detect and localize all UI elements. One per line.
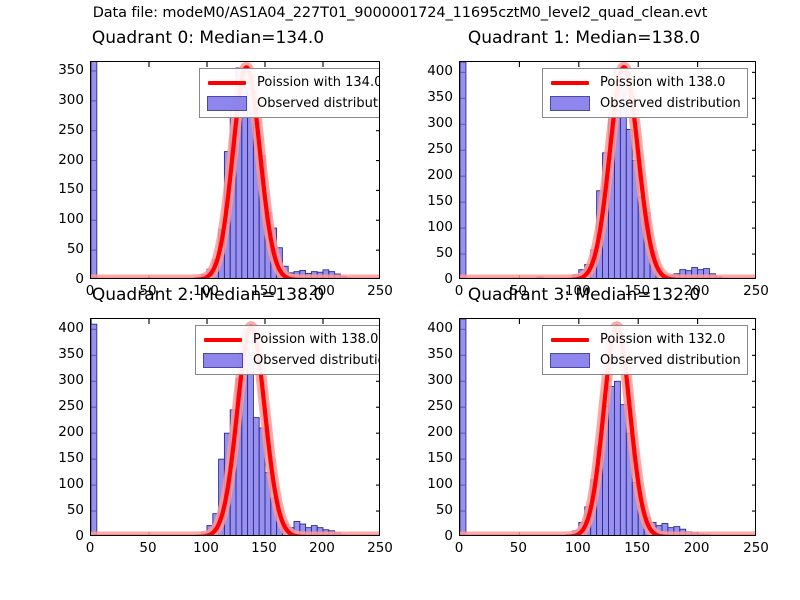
legend-key-observed xyxy=(206,96,248,111)
ytick-label: 0 xyxy=(404,528,453,544)
legend-label: Observed distribution xyxy=(257,96,380,111)
legend-key-fit xyxy=(549,338,591,342)
ytick-label: 300 xyxy=(28,92,84,108)
subplot-title-quadrant-0: Quadrant 0: Median=134.0 xyxy=(28,28,388,48)
ytick-label: 350 xyxy=(404,89,453,105)
xtick-label: 250 xyxy=(743,540,769,556)
legend-line-swatch xyxy=(208,81,246,85)
xtick-label: 50 xyxy=(510,540,527,556)
ytick-label: 300 xyxy=(404,115,453,131)
legend-row: Poission with 132.0 xyxy=(549,329,741,350)
legend-quadrant-2[interactable]: Poission with 138.0Observed distribution xyxy=(195,325,380,375)
ytick-label: 200 xyxy=(404,424,453,440)
ytick-label: 250 xyxy=(404,398,453,414)
ytick-label: 350 xyxy=(28,62,84,78)
ytick-label: 100 xyxy=(28,476,84,492)
legend-row: Poission with 134.0 xyxy=(206,72,380,93)
legend-label: Poission with 138.0 xyxy=(253,332,378,347)
legend-line-swatch xyxy=(204,338,242,342)
ytick-label: 50 xyxy=(404,502,453,518)
legend-key-observed xyxy=(549,353,591,368)
ytick-label: 150 xyxy=(28,181,84,197)
xtick-label: 100 xyxy=(193,540,219,556)
legend-row: Observed distribution xyxy=(549,350,741,371)
subplot-quadrant-0: Quadrant 0: Median=134.00501001502002503… xyxy=(28,28,388,290)
subplot-title-quadrant-1: Quadrant 1: Median=138.0 xyxy=(404,28,764,48)
figure-suptitle: Data file: modeM0/AS1A04_227T01_90000017… xyxy=(0,5,800,21)
ytick-label: 150 xyxy=(404,450,453,466)
plot-area-quadrant-1: Poission with 138.0Observed distribution xyxy=(459,61,756,279)
ytick-label: 50 xyxy=(28,502,84,518)
subplot-title-quadrant-2: Quadrant 2: Median=138.0 xyxy=(28,285,388,305)
legend-key-observed xyxy=(202,353,244,368)
legend-label: Observed distribution xyxy=(600,96,741,111)
legend-row: Observed distribution xyxy=(549,93,741,114)
ytick-label: 100 xyxy=(28,211,84,227)
legend-line-swatch xyxy=(551,81,589,85)
legend-quadrant-1[interactable]: Poission with 138.0Observed distribution xyxy=(542,68,748,118)
legend-label: Poission with 132.0 xyxy=(600,332,725,347)
legend-key-fit xyxy=(202,338,244,342)
legend-label: Observed distribution xyxy=(253,353,380,368)
xtick-label: 250 xyxy=(367,540,393,556)
ytick-label: 300 xyxy=(28,372,84,388)
ytick-label: 400 xyxy=(404,320,453,336)
ytick-label: 250 xyxy=(28,122,84,138)
xtick-label: 100 xyxy=(565,540,591,556)
legend-row: Observed distribution xyxy=(206,93,380,114)
xtick-label: 150 xyxy=(251,540,277,556)
legend-row: Poission with 138.0 xyxy=(549,72,741,93)
subplot-title-quadrant-3: Quadrant 3: Median=132.0 xyxy=(404,285,764,305)
ytick-label: 50 xyxy=(28,241,84,257)
ytick-label: 400 xyxy=(404,63,453,79)
legend-label: Observed distribution xyxy=(600,353,741,368)
xtick-label: 0 xyxy=(455,540,464,556)
ytick-label: 250 xyxy=(404,141,453,157)
ytick-label: 400 xyxy=(28,320,84,336)
legend-row: Observed distribution xyxy=(202,350,380,371)
legend-patch-swatch xyxy=(550,96,590,111)
xtick-label: 50 xyxy=(139,540,156,556)
legend-quadrant-0[interactable]: Poission with 134.0Observed distribution xyxy=(199,68,380,118)
xtick-label: 150 xyxy=(624,540,650,556)
ytick-label: 50 xyxy=(404,245,453,261)
ytick-label: 350 xyxy=(404,346,453,362)
legend-row: Poission with 138.0 xyxy=(202,329,380,350)
xtick-label: 200 xyxy=(684,540,710,556)
ytick-label: 100 xyxy=(404,219,453,235)
legend-key-fit xyxy=(549,81,591,85)
legend-patch-swatch xyxy=(203,353,243,368)
subplot-quadrant-2: Quadrant 2: Median=138.00501001502002503… xyxy=(28,285,388,550)
ytick-label: 150 xyxy=(28,450,84,466)
ytick-label: 150 xyxy=(404,193,453,209)
legend-label: Poission with 134.0 xyxy=(257,75,380,90)
plot-area-quadrant-2: Poission with 138.0Observed distribution xyxy=(90,318,380,536)
ytick-label: 200 xyxy=(404,167,453,183)
figure-canvas: Data file: modeM0/AS1A04_227T01_90000017… xyxy=(0,0,800,600)
xtick-label: 0 xyxy=(86,540,95,556)
legend-label: Poission with 138.0 xyxy=(600,75,725,90)
legend-key-fit xyxy=(206,81,248,85)
plot-area-quadrant-3: Poission with 132.0Observed distribution xyxy=(459,318,756,536)
legend-patch-swatch xyxy=(207,96,247,111)
legend-quadrant-3[interactable]: Poission with 132.0Observed distribution xyxy=(542,325,748,375)
subplot-quadrant-3: Quadrant 3: Median=132.00501001502002503… xyxy=(404,285,764,550)
ytick-label: 200 xyxy=(28,424,84,440)
ytick-label: 0 xyxy=(28,528,84,544)
ytick-label: 100 xyxy=(404,476,453,492)
ytick-label: 300 xyxy=(404,372,453,388)
subplot-quadrant-1: Quadrant 1: Median=138.00501001502002503… xyxy=(404,28,764,290)
plot-area-quadrant-0: Poission with 134.0Observed distribution xyxy=(90,61,380,279)
legend-patch-swatch xyxy=(550,353,590,368)
legend-line-swatch xyxy=(551,338,589,342)
ytick-label: 200 xyxy=(28,152,84,168)
legend-key-observed xyxy=(549,96,591,111)
xtick-label: 200 xyxy=(309,540,335,556)
ytick-label: 350 xyxy=(28,346,84,362)
ytick-label: 250 xyxy=(28,398,84,414)
